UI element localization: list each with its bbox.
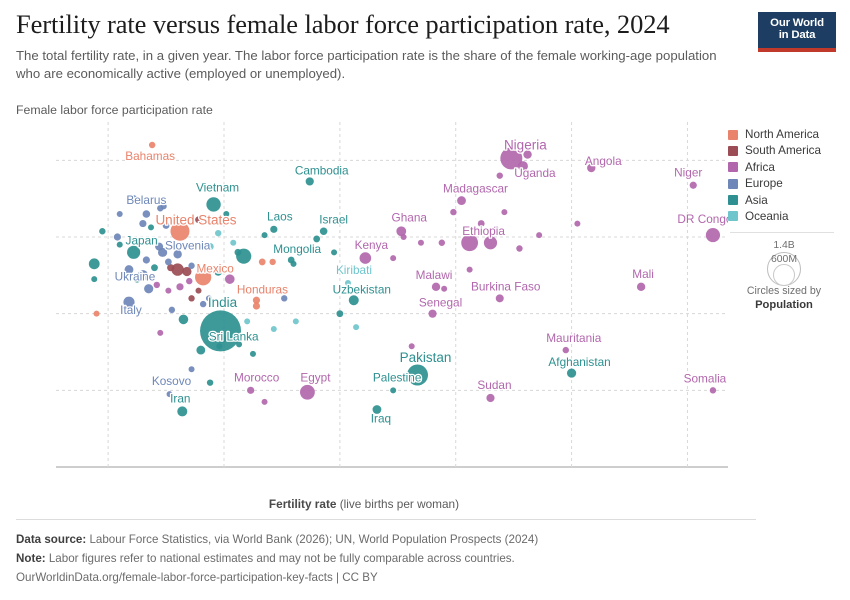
point-label-angola: Angola (585, 154, 622, 168)
data-point-senegal[interactable] (428, 310, 436, 318)
data-point-u56[interactable] (293, 318, 299, 324)
point-label-sri-lanka: Sri Lanka (209, 330, 259, 344)
point-label-iran: Iran (170, 391, 190, 405)
data-point-u51[interactable] (250, 351, 256, 357)
data-point-u18[interactable] (165, 259, 172, 266)
chart-subtitle: The total fertility rate, in a given yea… (16, 47, 742, 84)
footer-source-text: Labour Force Statistics, via World Bank … (89, 533, 538, 546)
legend-swatch (728, 130, 738, 140)
legend-item-label: South America (745, 144, 821, 157)
data-point-u78[interactable] (441, 286, 447, 292)
point-label-pakistan: Pakistan (400, 350, 452, 365)
scatter-plot-area[interactable]: 0%20%40%60%80%123456BahamasNigeriaUganda… (56, 122, 728, 467)
chart-footer: Data source: Labour Force Statistics, vi… (16, 519, 756, 588)
point-label-united-states: United States (155, 212, 236, 227)
point-label-mexico: Mexico (196, 261, 234, 275)
legend-divider (730, 232, 834, 233)
point-label-senegal: Senegal (419, 296, 462, 310)
data-point-u6[interactable] (117, 242, 123, 248)
legend-item-label: North America (745, 128, 819, 141)
data-point-u30[interactable] (176, 283, 183, 290)
data-point-u5[interactable] (114, 233, 121, 240)
data-point-u35[interactable] (169, 307, 175, 313)
footer-note: Note: Labor figures refer to national es… (16, 549, 756, 568)
size-circle-small (773, 264, 795, 286)
data-point-burkina-faso[interactable] (496, 294, 504, 302)
data-point-u73[interactable] (484, 236, 497, 249)
x-axis-label-bold: Fertility rate (269, 497, 337, 511)
x-axis-label-rest: (live births per woman) (340, 497, 459, 511)
data-point-malawi[interactable] (432, 283, 440, 291)
data-point-u85[interactable] (262, 399, 268, 405)
point-label-afghanistan: Afghanistan (548, 355, 610, 369)
data-point-u79[interactable] (262, 232, 268, 238)
legend-entries: North AmericaSouth AmericaAfricaEuropeAs… (728, 128, 846, 223)
point-label-palestine: Palestine (373, 370, 422, 384)
point-label-kenya: Kenya (355, 238, 389, 252)
data-point-u80[interactable] (291, 261, 297, 267)
size-label-small: 600M (771, 254, 797, 265)
data-point-afghanistan[interactable] (567, 368, 576, 377)
point-label-dr-congo: DR Congo (677, 212, 728, 226)
owid-logo[interactable]: Our World in Data (758, 12, 836, 52)
data-point-dr-congo[interactable] (706, 228, 720, 242)
data-point-u32[interactable] (196, 288, 202, 294)
legend-swatch (728, 146, 738, 156)
data-point-u42[interactable] (269, 259, 275, 265)
footer-source-label: Data source: (16, 533, 86, 546)
point-label-uganda: Uganda (514, 166, 556, 180)
legend-item-oceania[interactable]: Oceania (728, 210, 846, 223)
data-point-u44[interactable] (225, 274, 235, 284)
legend-item-label: Africa (745, 161, 775, 174)
size-legend-caption: Circles sized by Population (728, 284, 840, 313)
data-point-u24[interactable] (143, 256, 150, 263)
data-point-u39[interactable] (235, 249, 242, 256)
point-label-egypt: Egypt (300, 370, 331, 384)
data-point-u66[interactable] (409, 343, 415, 349)
data-point-u72[interactable] (497, 172, 503, 178)
data-point-u29[interactable] (165, 288, 171, 294)
data-point-u81[interactable] (117, 211, 123, 217)
point-label-mali: Mali (632, 267, 654, 281)
data-point-u58[interactable] (331, 249, 337, 255)
data-point-u70[interactable] (501, 209, 507, 215)
data-point-u4[interactable] (94, 311, 100, 317)
footer-note-text: Labor figures refer to national estimate… (49, 552, 515, 565)
data-point-u74[interactable] (516, 245, 522, 251)
legend-swatch (728, 179, 738, 189)
legend-item-europe[interactable]: Europe (728, 177, 846, 190)
data-point-u27[interactable] (144, 284, 153, 293)
point-label-ghana: Ghana (392, 210, 428, 224)
point-label-vietnam: Vietnam (196, 180, 239, 194)
data-point-bahamas[interactable] (149, 142, 155, 148)
data-point-u76[interactable] (536, 232, 542, 238)
x-axis-label: Fertility rate (live births per woman) (0, 497, 728, 511)
data-point-morocco[interactable] (247, 387, 254, 394)
point-label-malawi: Malawi (416, 268, 453, 282)
y-axis-label: Female labor force participation rate (16, 103, 213, 117)
data-point-u3[interactable] (99, 228, 105, 234)
point-label-india: India (208, 295, 238, 310)
footer-note-label: Note: (16, 552, 46, 565)
data-point-u53[interactable] (189, 366, 195, 372)
data-point-palestine[interactable] (390, 387, 396, 393)
point-label-iraq: Iraq (371, 412, 391, 426)
point-label-japan: Japan (126, 233, 158, 247)
point-label-ukraine: Ukraine (115, 270, 156, 284)
data-point-cambodia[interactable] (306, 177, 314, 185)
point-label-kosovo: Kosovo (152, 374, 192, 388)
point-label-niger: Niger (674, 165, 702, 179)
legend-item-asia[interactable]: Asia (728, 194, 846, 207)
data-point-u67[interactable] (450, 209, 456, 215)
data-point-u77[interactable] (574, 221, 580, 227)
data-point-somalia[interactable] (710, 387, 716, 393)
data-point-u60[interactable] (353, 324, 359, 330)
point-label-israel: Israel (319, 212, 348, 226)
footer-license[interactable]: OurWorldinData.org/female-labor-force-pa… (16, 568, 756, 587)
data-point-u52[interactable] (196, 346, 205, 355)
data-point-u9[interactable] (139, 220, 146, 227)
point-label-somalia: Somalia (684, 371, 727, 385)
legend-item-label: Asia (745, 194, 768, 207)
legend-swatch (728, 195, 738, 205)
point-label-mauritania: Mauritania (546, 331, 602, 345)
data-point-u36[interactable] (179, 315, 189, 325)
legend-item-north-america[interactable]: North America (728, 128, 846, 141)
data-point-u46[interactable] (230, 240, 236, 246)
data-point-u41[interactable] (259, 259, 266, 266)
point-label-laos: Laos (267, 209, 293, 223)
data-point-u82[interactable] (216, 343, 222, 349)
data-point-u63[interactable] (401, 234, 407, 240)
continent-legend[interactable]: North AmericaSouth AmericaAfricaEuropeAs… (728, 128, 846, 313)
data-point-uzbekistan[interactable] (349, 295, 359, 305)
scatter-plot-svg: 0%20%40%60%80%123456BahamasNigeriaUganda… (56, 122, 728, 472)
data-point-u47[interactable] (215, 230, 221, 236)
legend-item-south-america[interactable]: South America (728, 144, 846, 157)
data-point-u65[interactable] (439, 240, 445, 246)
data-point-egypt[interactable] (300, 385, 315, 400)
legend-item-label: Europe (745, 177, 783, 190)
data-point-iran[interactable] (177, 406, 187, 416)
size-caption-line2: Population (755, 299, 813, 311)
data-point-niger[interactable] (690, 182, 697, 189)
owid-logo-line2: in Data (779, 30, 816, 42)
data-point-u62[interactable] (390, 255, 396, 261)
point-label-slovenia: Slovenia (165, 238, 211, 252)
data-point-u49[interactable] (244, 318, 250, 324)
data-point-u37[interactable] (200, 301, 206, 307)
data-point-u1[interactable] (89, 258, 100, 269)
data-point-u22[interactable] (188, 263, 194, 269)
data-point-u84[interactable] (207, 379, 213, 385)
footer-source: Data source: Labour Force Statistics, vi… (16, 530, 756, 549)
data-point-vietnam[interactable] (206, 197, 220, 211)
point-label-morocco: Morocco (234, 370, 280, 384)
point-label-uzbekistan: Uzbekistan (333, 282, 391, 296)
point-label-belarus: Belarus (126, 193, 166, 207)
point-label-sudan: Sudan (477, 378, 511, 392)
data-point-madagascar[interactable] (457, 196, 466, 205)
point-label-madagascar: Madagascar (443, 182, 508, 196)
point-label-honduras: Honduras (237, 282, 288, 296)
point-label-nigeria: Nigeria (504, 137, 547, 152)
data-point-mali[interactable] (637, 283, 645, 291)
size-legend-circles: 1.4B 600M (728, 242, 840, 286)
size-caption-line1: Circles sized by (728, 284, 840, 298)
data-point-belarus[interactable] (143, 210, 151, 218)
chart-page: Fertility rate versus female labor force… (0, 0, 850, 600)
data-point-u48[interactable] (253, 302, 260, 309)
point-label-kiribati: Kiribati (336, 263, 372, 277)
data-point-u2[interactable] (91, 276, 97, 282)
point-label-bahamas: Bahamas (125, 149, 175, 163)
data-point-laos[interactable] (270, 226, 277, 233)
point-label-italy: Italy (120, 303, 142, 317)
data-point-sudan[interactable] (486, 394, 494, 402)
point-label-ethiopia: Ethiopia (462, 224, 505, 238)
size-legend: 1.4B 600M Circles sized by Population (728, 242, 840, 313)
data-point-u59[interactable] (336, 310, 343, 317)
data-point-u64[interactable] (418, 240, 424, 246)
data-point-u83[interactable] (157, 330, 163, 336)
point-label-mongolia: Mongolia (273, 242, 321, 256)
data-point-mauritania[interactable] (563, 347, 569, 353)
data-point-u31[interactable] (186, 278, 192, 284)
legend-item-africa[interactable]: Africa (728, 161, 846, 174)
data-point-u10[interactable] (148, 224, 154, 230)
chart-header: Fertility rate versus female labor force… (16, 10, 756, 84)
size-label-large: 1.4B (773, 240, 794, 251)
point-label-burkina-faso: Burkina Faso (471, 279, 541, 293)
page-title: Fertility rate versus female labor force… (16, 10, 756, 40)
data-point-u75[interactable] (467, 267, 473, 273)
data-point-japan[interactable] (127, 246, 140, 259)
legend-swatch (728, 162, 738, 172)
data-point-israel[interactable] (320, 227, 328, 235)
legend-swatch (728, 211, 738, 221)
data-point-u54[interactable] (271, 326, 277, 332)
point-label-cambodia: Cambodia (295, 163, 349, 177)
legend-item-label: Oceania (745, 210, 789, 223)
data-point-u33[interactable] (188, 295, 194, 301)
